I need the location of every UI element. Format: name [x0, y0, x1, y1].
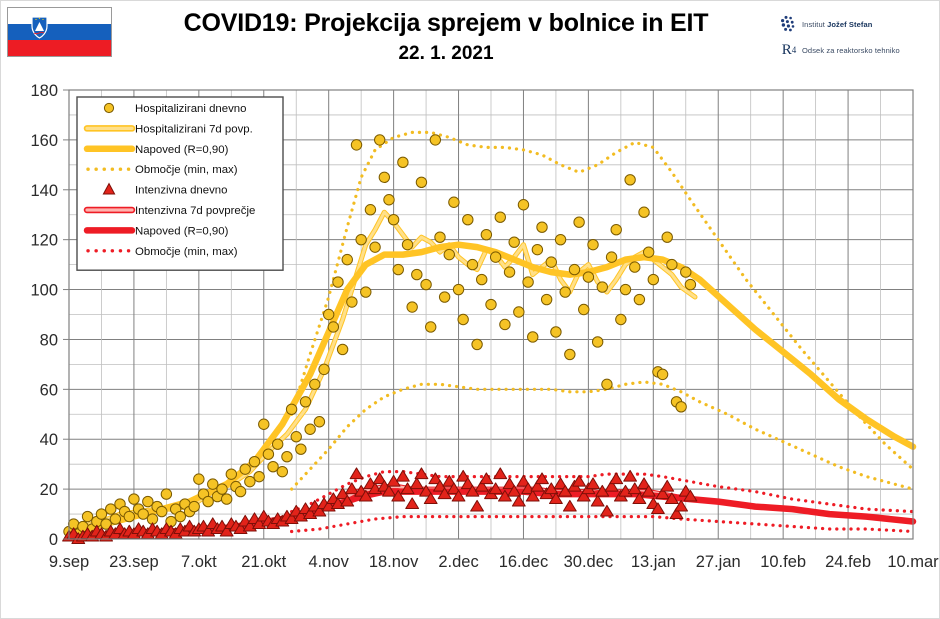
x-tick-label: 24.feb — [825, 553, 871, 571]
legend-item-label: Hospitalizirani dnevno — [135, 103, 246, 115]
y-tick-label: 20 — [40, 481, 58, 499]
x-tick-label: 23.sep — [109, 553, 159, 571]
legend-item-label: Intenzivna 7d povprečje — [135, 205, 255, 217]
y-tick-label: 140 — [30, 182, 58, 200]
y-tick-label: 160 — [30, 132, 58, 150]
legend-item-label: Hospitalizirani 7d povp. — [135, 123, 253, 135]
flag-band-blue — [8, 24, 111, 40]
coat-of-arms-icon — [31, 15, 48, 39]
x-tick-label: 16.dec — [499, 553, 549, 571]
r4-logo-icon: R4 — [776, 43, 802, 58]
page-subtitle: 22. 1. 2021 — [121, 43, 771, 65]
x-tick-label: 30.dec — [564, 553, 614, 571]
legend-item-label: Napoved (R=0,90) — [135, 225, 229, 237]
y-tick-label: 80 — [40, 331, 58, 349]
x-tick-label: 2.dec — [438, 553, 478, 571]
x-tick-label: 4.nov — [309, 553, 350, 571]
legend-item-label: Območje (min, max) — [135, 164, 238, 176]
x-tick-label: 10.mar — [887, 553, 939, 571]
y-tick-label: 120 — [30, 232, 58, 250]
legend-item-label: Intenzivna dnevno — [135, 185, 227, 197]
flag-band-white — [8, 8, 111, 24]
x-tick-label: 10.feb — [760, 553, 806, 571]
logo-row-institute: Institut Jožef Stefan — [776, 11, 931, 37]
flag-band-red — [8, 40, 111, 56]
logo-institute-text: Institut Jožef Stefan — [802, 20, 872, 29]
x-tick-label: 13.jan — [631, 553, 676, 571]
x-tick-label: 7.okt — [181, 553, 217, 571]
legend-item-label: Območje (min, max) — [135, 246, 238, 258]
x-tick-label: 18.nov — [369, 553, 419, 571]
title-block: COVID19: Projekcija sprejem v bolnice in… — [121, 9, 771, 65]
logo-department-text: Odsek za reaktorsko tehniko — [802, 46, 900, 55]
slovenian-flag — [7, 7, 112, 57]
y-tick-label: 180 — [30, 82, 58, 100]
y-tick-label: 60 — [40, 381, 58, 399]
institute-logo: Institut Jožef Stefan R4 Odsek za reakto… — [776, 11, 931, 71]
logo-row-department: R4 Odsek za reaktorsko tehniko — [776, 37, 931, 63]
x-axis-tick-labels: 9.sep23.sep7.okt21.okt4.nov18.nov2.dec16… — [49, 553, 939, 571]
y-tick-label: 0 — [49, 531, 58, 549]
legend-item-label: Napoved (R=0,90) — [135, 144, 229, 156]
y-axis-tick-labels: 020406080100120140160180 — [30, 82, 69, 549]
ijs-dots-icon — [776, 14, 802, 34]
chart-area: 020406080100120140160180 9.sep23.sep7.ok… — [1, 79, 940, 579]
x-tick-label: 9.sep — [49, 553, 89, 571]
y-tick-label: 100 — [30, 282, 58, 300]
x-tick-label: 27.jan — [696, 553, 741, 571]
page-title: COVID19: Projekcija sprejem v bolnice in… — [121, 9, 771, 38]
chart-screenshot: { "header": { "title": "COVID19: Projekc… — [0, 0, 940, 619]
chart-legend: Hospitalizirani dnevnoHospitalizirani 7d… — [77, 97, 283, 270]
covid-projection-chart: 020406080100120140160180 9.sep23.sep7.ok… — [1, 79, 940, 579]
x-tick-label: 21.okt — [241, 553, 286, 571]
y-tick-label: 40 — [40, 431, 58, 449]
